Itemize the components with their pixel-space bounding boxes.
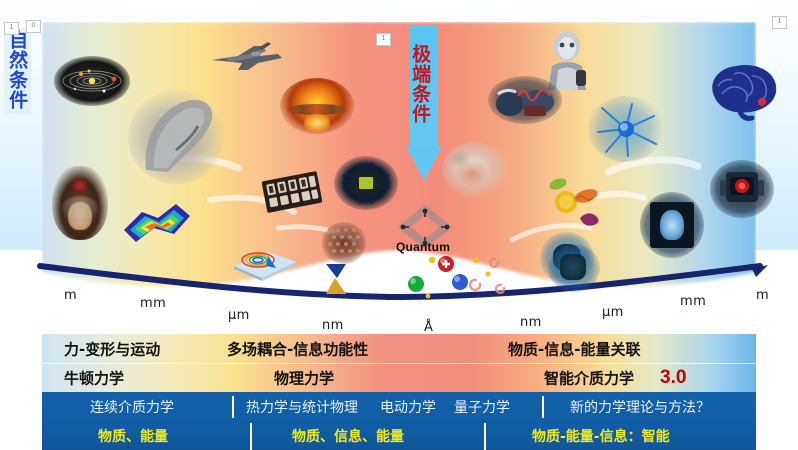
unit-label-angstrom: Å (424, 320, 433, 335)
blue-cell-matter-energy: 物质、能量 (98, 426, 168, 446)
image-surgery-scene (488, 76, 562, 124)
unit-label-nm-left: nm (322, 318, 344, 333)
image-fighter-jet (208, 36, 286, 76)
band-cell-physical-mechanics: 物理力学 (274, 367, 334, 388)
blue-row1-divider-2 (542, 396, 544, 418)
blue-row1-divider-1 (232, 396, 234, 418)
marker-chip-2[interactable]: 0 (26, 20, 41, 33)
image-fem-stress-contour (118, 196, 196, 252)
image-robot-head (710, 160, 774, 218)
band-row-1: 力-变形与运动 多场耦合-信息功能性 物质-信息-能量关联 (42, 334, 756, 363)
image-explosion-smoke (442, 142, 508, 198)
blue-row2-divider-2 (484, 423, 486, 450)
image-atoms-particles (398, 250, 518, 304)
discipline-gradient-band: 力-变形与运动 多场耦合-信息功能性 物质-信息-能量关联 牛顿力学 物理力学 … (42, 334, 756, 392)
blue-cell-quantum-mechanics: 量子力学 (454, 397, 510, 417)
blue-cell-electrodynamics: 电动力学 (380, 397, 436, 417)
blue-cell-matter-energy-info-intelligence: 物质-能量-信息：智能 (532, 426, 670, 446)
theory-blue-table: 连续介质力学 热力学与统计物理 电动力学 量子力学 新的力学理论与方法？ 物质、… (42, 392, 756, 450)
extreme-conditions-label: 极端条件 (410, 44, 430, 124)
version-badge-3-0: 3.0 (660, 367, 686, 389)
image-hourglass-nano (322, 262, 350, 296)
marker-chip-1[interactable]: 1 (4, 22, 19, 35)
band-cell-force-deformation-motion: 力-变形与运动 (64, 338, 160, 359)
band-row-2: 牛顿力学 物理力学 智能介质力学 3.0 (42, 363, 756, 392)
image-bacteria-cells (546, 176, 608, 228)
natural-conditions-label: 自然条件 (4, 28, 31, 114)
image-nanotube-lattice (322, 222, 366, 264)
blue-row2-divider-1 (250, 423, 252, 450)
blue-cell-new-theory-methods: 新的力学理论与方法？ (570, 397, 710, 417)
unit-label-um-left: μm (228, 308, 250, 323)
unit-label-mm-left: mm (140, 296, 166, 311)
image-human-brain (704, 60, 782, 122)
unit-label-nm-right: nm (520, 315, 542, 330)
arrow-head-icon (406, 146, 442, 181)
band-cell-matter-info-energy: 物质-信息-能量关联 (508, 338, 640, 359)
image-neuron-cell (588, 96, 664, 162)
unit-label-um-right: μm (602, 305, 624, 320)
marker-chip-3[interactable]: 1 (376, 33, 391, 46)
unit-label-m-left: m (64, 288, 77, 303)
unit-label-mm-right: mm (680, 294, 706, 309)
blue-row-1: 连续介质力学 热力学与统计物理 电动力学 量子力学 新的力学理论与方法？ (42, 392, 756, 421)
image-nano-cluster (548, 244, 600, 292)
image-solar-system (54, 56, 130, 106)
blue-cell-thermo-statistical: 热力学与统计物理 (246, 397, 358, 417)
image-turbine-blade (128, 90, 224, 184)
blue-row-2: 物质、能量 物质、信息、能量 物质-能量-信息：智能 (42, 421, 756, 450)
band-cell-newtonian-mechanics: 牛顿力学 (64, 367, 124, 388)
marker-chip-4[interactable]: 1 (772, 16, 787, 29)
image-mems-device (228, 238, 300, 282)
image-isaac-newton-portrait (52, 166, 108, 240)
band-cell-multifield-coupling: 多场耦合-信息功能性 (227, 338, 368, 359)
blue-cell-continuum-mechanics: 连续介质力学 (90, 397, 174, 417)
band-cell-intelligent-media-mechanics: 智能介质力学 (544, 367, 634, 388)
image-nuclear-explosion (280, 78, 354, 134)
blue-cell-matter-info-energy: 物质、信息、能量 (292, 426, 404, 446)
image-brain-scan (640, 192, 704, 258)
unit-label-m-right: m (756, 288, 769, 303)
presentation-slide: m mm μm nm Å nm μm mm m (0, 0, 798, 450)
image-processor-chip (334, 156, 398, 210)
